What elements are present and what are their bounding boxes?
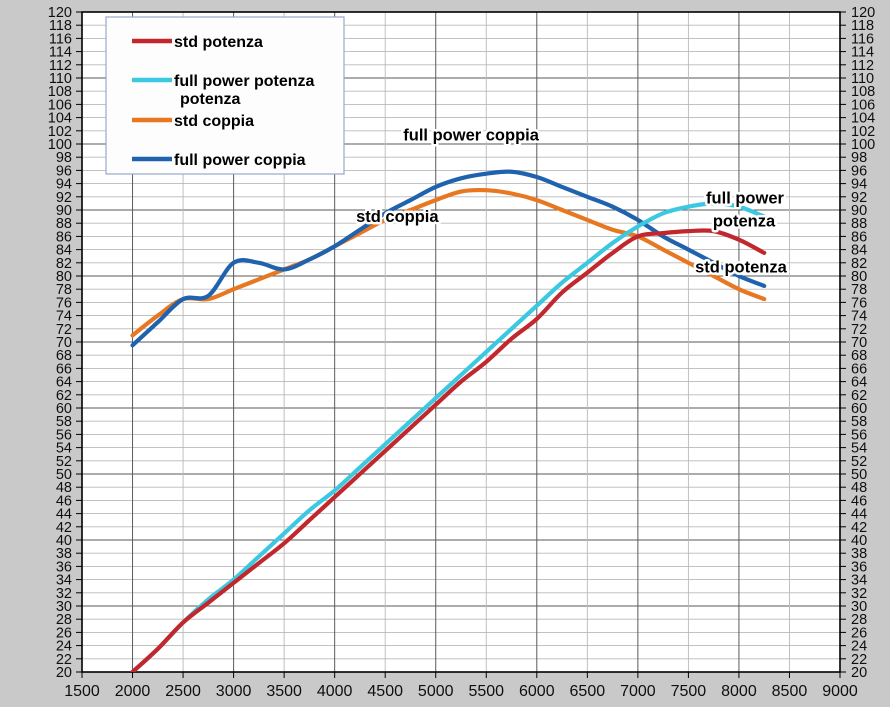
x-axis-label: 6000 xyxy=(519,683,555,700)
x-axis-label: 1500 xyxy=(64,683,100,700)
y-axis-label-right: 20 xyxy=(851,665,867,681)
x-axis-label: 5000 xyxy=(418,683,454,700)
x-axis-label: 7000 xyxy=(620,683,656,700)
annotation-label: full power coppia xyxy=(403,127,539,145)
x-axis-label: 8500 xyxy=(772,683,808,700)
legend-item-label: full power potenza xyxy=(174,73,315,90)
x-axis-label: 3000 xyxy=(216,683,252,700)
legend-item-label: full power coppia xyxy=(174,152,306,169)
annotation-label: std potenza xyxy=(695,259,787,277)
legend-item-label: std coppia xyxy=(174,113,254,130)
legend-item-label: potenza xyxy=(180,91,241,108)
x-axis-label: 7500 xyxy=(671,683,707,700)
x-axis-label: 3500 xyxy=(266,683,302,700)
annotation-label: potenza xyxy=(713,213,776,231)
x-axis-label: 6500 xyxy=(570,683,606,700)
x-axis-label: 2000 xyxy=(115,683,151,700)
x-axis-label: 5500 xyxy=(468,683,504,700)
y-axis-label-left: 20 xyxy=(56,665,72,681)
dyno-chart: 1201201181181161161141141121121101101081… xyxy=(0,0,890,707)
annotation-label: std coppia xyxy=(356,208,439,226)
x-axis-label: 2500 xyxy=(165,683,201,700)
x-axis-label: 4500 xyxy=(367,683,403,700)
x-axis-label: 4000 xyxy=(317,683,353,700)
x-axis-label: 9000 xyxy=(822,683,858,700)
x-axis-label: 8000 xyxy=(721,683,757,700)
chart-svg: 1201201181181161161141141121121101101081… xyxy=(0,0,890,707)
annotation-label: full power xyxy=(706,189,784,207)
legend-item-label: std potenza xyxy=(174,34,263,51)
